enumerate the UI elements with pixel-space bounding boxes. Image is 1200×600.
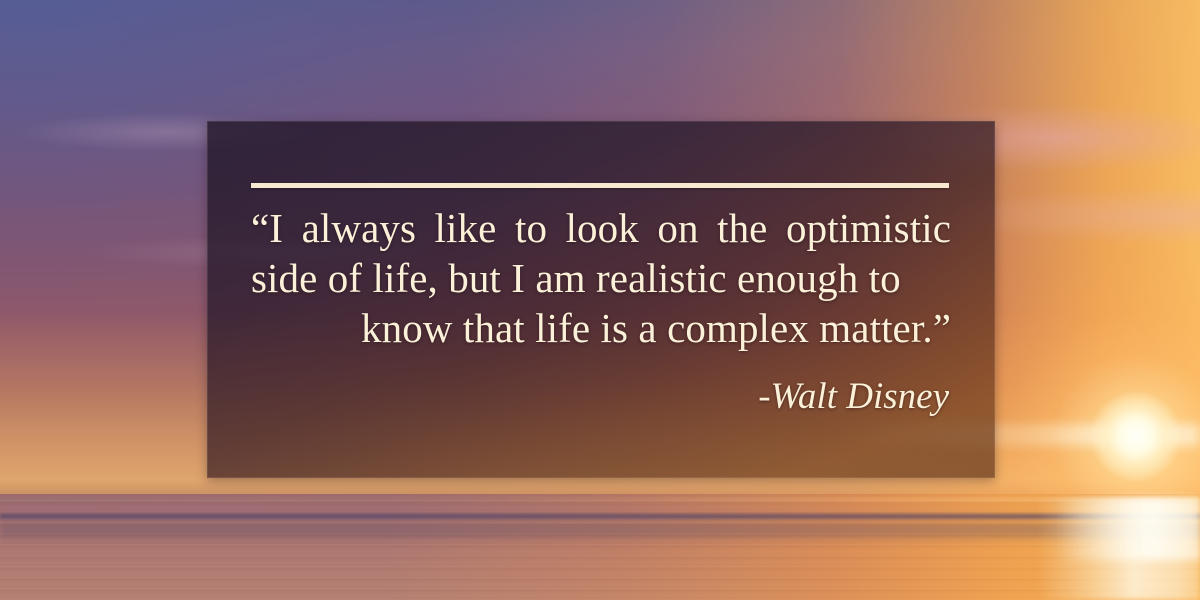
quote-line-1: “I always like to look on the optimistic [251,203,951,253]
quote-word: optimistic [786,203,951,253]
quote-word: always [302,203,416,253]
quote-word: on [657,203,698,253]
quote-line-3: know that life is a complex matter.” [251,303,951,353]
quote-card: “I always like to look on the optimistic… [207,121,995,478]
quote-word: “I [251,203,283,253]
quote-text-block: “I always like to look on the optimistic… [251,203,951,419]
quote-line-2: side of life, but I am realistic enough … [251,253,951,303]
decorative-rule [251,183,949,188]
quote-word: look [566,203,639,253]
quote-word: like [435,203,497,253]
sun-reflection-highlight [0,498,1200,560]
quote-image-canvas: “I always like to look on the optimistic… [0,0,1200,600]
quote-word: the [717,203,767,253]
quote-attribution: -Walt Disney [251,375,951,419]
quote-word: to [515,203,547,253]
